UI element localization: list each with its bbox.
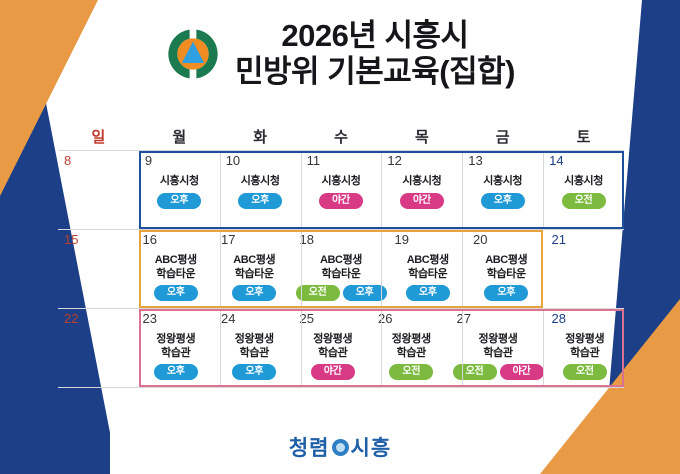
session-badges: 야간 (303, 193, 380, 209)
session-badges: 오후 (391, 285, 466, 301)
day-number: 26 (378, 312, 392, 325)
venue-label: 정왕평생학습관 (453, 333, 544, 360)
venue-label: ABC평생학습타운 (296, 254, 387, 281)
session-badge-night: 야간 (311, 364, 355, 380)
title-line-2: 민방위 기본교육(집합) (235, 54, 515, 90)
session-badge-night: 야간 (500, 364, 544, 380)
session-badges: 오후 (217, 364, 292, 380)
calendar-weeks: 89시흥시청오후10시흥시청오후11시흥시청야간12시흥시청야간13시흥시청오후… (58, 150, 624, 388)
venue-label: 정왕평생학습관 (139, 333, 214, 360)
session-badge-am: 오전 (562, 193, 606, 209)
session-badge-pm: 오후 (343, 285, 387, 301)
day-number: 9 (145, 154, 152, 167)
calendar-day-cell[interactable]: 16ABC평생학습타운오후 (137, 230, 216, 308)
session-badge-am: 오전 (563, 364, 607, 380)
session-badge-am: 오전 (453, 364, 497, 380)
day-number: 11 (307, 154, 321, 167)
day-number: 23 (143, 312, 157, 325)
session-badges: 오후 (464, 193, 541, 209)
calendar-week-row: 1516ABC평생학습타운오후17ABC평생학습타운오후18ABC평생학습타운오… (58, 229, 624, 308)
session-badges: 오전 (545, 193, 622, 209)
session-badges: 오후 (217, 285, 292, 301)
session-badges: 야간 (383, 193, 460, 209)
poster-root: 2026년 시흥시 민방위 기본교육(집합) 일월화수목금토 89시흥시청오후1… (0, 0, 680, 474)
session-badge-pm: 오후 (232, 285, 276, 301)
venue-label: 정왕평생학습관 (374, 333, 449, 360)
calendar-day-cell[interactable]: 13시흥시청오후 (462, 151, 543, 229)
city-slogan-logo: 청렴 시흥 (0, 432, 680, 462)
city-slogan-text: 청렴 시흥 (289, 432, 391, 462)
venue-label: 시흥시청 (222, 175, 299, 189)
slogan-dot-icon (332, 439, 349, 456)
calendar: 일월화수목금토 89시흥시청오후10시흥시청오후11시흥시청야간12시흥시청야간… (58, 122, 624, 388)
day-number: 16 (143, 233, 157, 246)
calendar-day-cell[interactable]: 18ABC평생학습타운오전오후 (294, 230, 389, 308)
venue-label: 시흥시청 (303, 175, 380, 189)
session-badges: 오후 (139, 364, 214, 380)
day-header-화: 화 (220, 126, 301, 147)
calendar-day-cell[interactable]: 10시흥시청오후 (220, 151, 301, 229)
session-badge-night: 야간 (400, 193, 444, 209)
day-number: 28 (552, 312, 566, 325)
calendar-day-cell[interactable]: 20ABC평생학습타운오후 (467, 230, 546, 308)
day-number: 13 (468, 154, 482, 167)
day-number: 19 (395, 233, 409, 246)
day-number: 24 (221, 312, 235, 325)
calendar-day-cell[interactable]: 11시흥시청야간 (301, 151, 382, 229)
calendar-day-cell[interactable]: 17ABC평생학습타운오후 (215, 230, 294, 308)
day-header-목: 목 (381, 126, 462, 147)
calendar-week-row: 89시흥시청오후10시흥시청오후11시흥시청야간12시흥시청야간13시흥시청오후… (58, 150, 624, 229)
day-number: 15 (64, 233, 78, 246)
calendar-day-cell[interactable]: 23정왕평생학습관오후 (137, 309, 216, 387)
session-badges: 오전 (548, 364, 623, 380)
day-number: 21 (552, 233, 566, 246)
calendar-day-cell[interactable]: 27정왕평생학습관오전야간 (451, 309, 546, 387)
calendar-day-cell[interactable]: 12시흥시청야간 (381, 151, 462, 229)
day-header-토: 토 (543, 126, 624, 147)
calendar-day-cell[interactable]: 9시흥시청오후 (139, 151, 220, 229)
session-badge-am: 오전 (389, 364, 433, 380)
calendar-day-cell[interactable]: 28정왕평생학습관오전 (546, 309, 625, 387)
session-badge-pm: 오후 (154, 285, 198, 301)
session-badges: 오전야간 (453, 364, 544, 380)
calendar-day-cell[interactable]: 14시흥시청오전 (543, 151, 624, 229)
calendar-day-headers: 일월화수목금토 (58, 122, 624, 150)
day-header-일: 일 (58, 126, 139, 147)
venue-label: ABC평생학습타운 (139, 254, 214, 281)
session-badge-pm: 오후 (481, 193, 525, 209)
venue-label: 정왕평생학습관 (296, 333, 371, 360)
calendar-day-cell[interactable]: 26정왕평생학습관오전 (372, 309, 451, 387)
session-badge-am: 오전 (296, 285, 340, 301)
venue-label: ABC평생학습타운 (391, 254, 466, 281)
venue-label: 정왕평생학습관 (217, 333, 292, 360)
session-badge-pm: 오후 (232, 364, 276, 380)
slogan-right: 시흥 (351, 432, 392, 462)
session-badges: 오전오후 (296, 285, 387, 301)
venue-label: 시흥시청 (464, 175, 541, 189)
day-number: 10 (226, 154, 240, 167)
session-badges: 오후 (469, 285, 544, 301)
day-number: 27 (457, 312, 471, 325)
day-number: 22 (64, 312, 78, 325)
day-number: 20 (473, 233, 487, 246)
day-header-금: 금 (462, 126, 543, 147)
session-badges: 야간 (296, 364, 371, 380)
day-number: 12 (387, 154, 401, 167)
session-badges: 오후 (141, 193, 218, 209)
calendar-day-cell[interactable]: 25정왕평생학습관야간 (294, 309, 373, 387)
title-line-1: 2026년 시흥시 (235, 18, 515, 54)
slogan-left: 청렴 (289, 432, 330, 462)
day-header-수: 수 (301, 126, 382, 147)
day-number: 17 (221, 233, 235, 246)
day-number: 18 (300, 233, 314, 246)
day-number: 25 (300, 312, 314, 325)
venue-label: ABC평생학습타운 (217, 254, 292, 281)
session-badges: 오후 (222, 193, 299, 209)
session-badge-night: 야간 (319, 193, 363, 209)
venue-label: 정왕평생학습관 (548, 333, 623, 360)
venue-label: 시흥시청 (545, 175, 622, 189)
session-badge-pm: 오후 (406, 285, 450, 301)
session-badges: 오전 (374, 364, 449, 380)
day-header-월: 월 (139, 126, 220, 147)
calendar-day-cell[interactable]: 15 (58, 230, 137, 308)
session-badge-pm: 오후 (157, 193, 201, 209)
calendar-day-cell[interactable]: 24정왕평생학습관오후 (215, 309, 294, 387)
day-number: 8 (64, 154, 71, 167)
session-badge-pm: 오후 (154, 364, 198, 380)
poster-title: 2026년 시흥시 민방위 기본교육(집합) (235, 18, 515, 90)
session-badge-pm: 오후 (238, 193, 282, 209)
civil-defense-emblem-icon (165, 26, 221, 82)
calendar-day-cell[interactable]: 19ABC평생학습타운오후 (389, 230, 468, 308)
session-badges: 오후 (139, 285, 214, 301)
poster-header: 2026년 시흥시 민방위 기본교육(집합) (0, 18, 680, 90)
calendar-week-row: 2223정왕평생학습관오후24정왕평생학습관오후25정왕평생학습관야간26정왕평… (58, 308, 624, 388)
calendar-day-cell[interactable]: 22 (58, 309, 137, 387)
venue-label: ABC평생학습타운 (469, 254, 544, 281)
calendar-day-cell[interactable]: 21 (546, 230, 625, 308)
session-badge-pm: 오후 (484, 285, 528, 301)
calendar-day-cell[interactable]: 8 (58, 151, 139, 229)
day-number: 14 (549, 154, 563, 167)
venue-label: 시흥시청 (141, 175, 218, 189)
venue-label: 시흥시청 (383, 175, 460, 189)
